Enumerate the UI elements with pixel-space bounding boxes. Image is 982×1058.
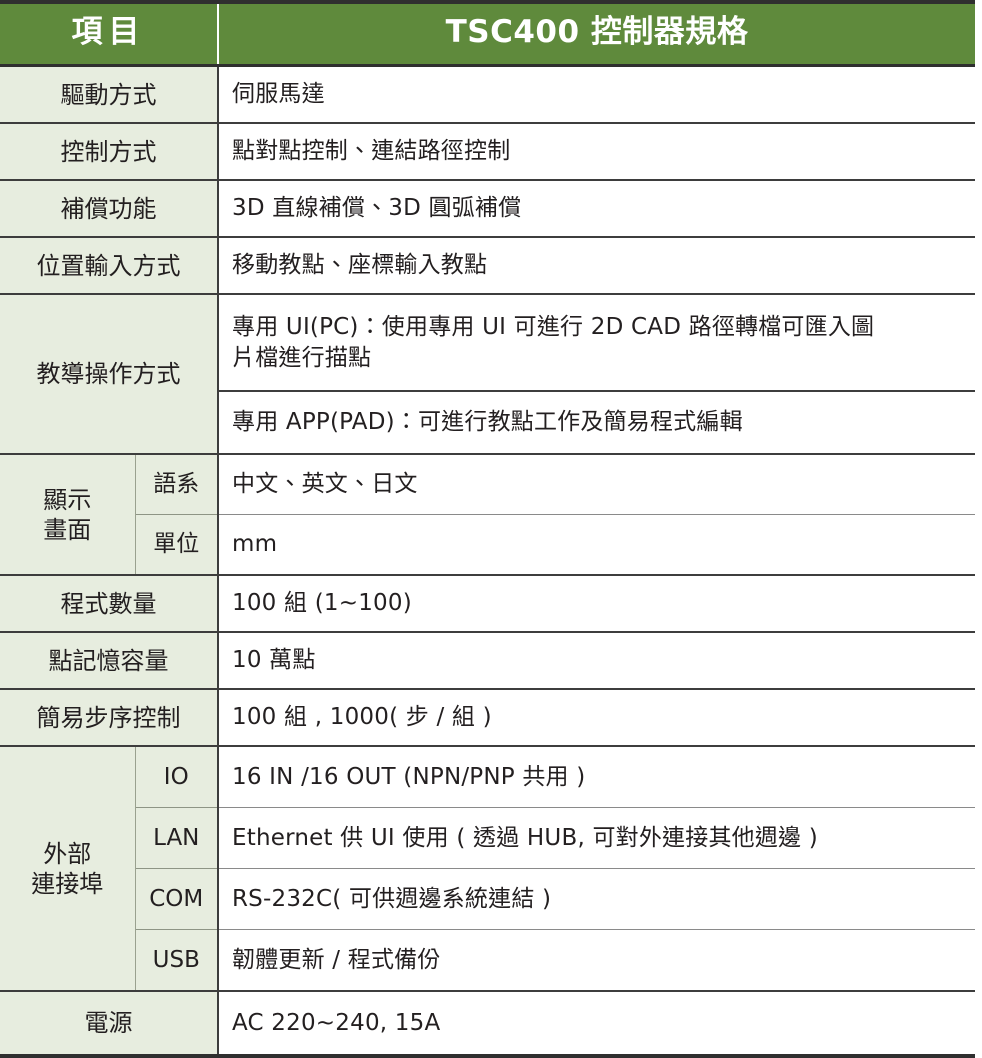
- spec-sheet-container: 項目 TSC400 控制器規格 驅動方式 伺服馬達 控制方式 點對點控制、連結路…: [0, 0, 982, 807]
- table-row-point-memory: 點記憶容量 10 萬點: [0, 632, 975, 689]
- header-item-column: 項目: [0, 2, 218, 66]
- row-value-usb: 韌體更新 / 程式備份: [218, 930, 975, 992]
- table-row-port-usb: USB 韌體更新 / 程式備份: [0, 930, 975, 992]
- table-row-port-com: COM RS-232C( 可供週邊系統連結 ): [0, 869, 975, 930]
- row-value-language: 中文、英文、日文: [218, 454, 975, 515]
- row-label-step-sequence: 簡易步序控制: [0, 689, 218, 746]
- table-row-position-input: 位置輸入方式 移動教點、座標輸入教點: [0, 237, 975, 294]
- row-value-program-count: 100 組 (1~100): [218, 575, 975, 632]
- table-row-step-sequence: 簡易步序控制 100 組 , 1000( 步 / 組 ): [0, 689, 975, 746]
- row-value-point-memory: 10 萬點: [218, 632, 975, 689]
- row-label-control-method: 控制方式: [0, 123, 218, 180]
- teaching-ui-line-1: 專用 UI(PC)：使用專用 UI 可進行 2D CAD 路徑轉檔可匯入圖: [232, 312, 975, 342]
- table-header-row: 項目 TSC400 控制器規格: [0, 2, 975, 66]
- table-row-program-count: 程式數量 100 組 (1~100): [0, 575, 975, 632]
- sub-label-lan: LAN: [135, 808, 218, 869]
- table-row-port-lan: LAN Ethernet 供 UI 使用 ( 透過 HUB, 可對外連接其他週邊…: [0, 808, 975, 869]
- row-value-position-input: 移動教點、座標輸入教點: [218, 237, 975, 294]
- row-label-program-count: 程式數量: [0, 575, 218, 632]
- table-row-power-supply: 電源 AC 220~240, 15A: [0, 991, 975, 1056]
- sub-label-com: COM: [135, 869, 218, 930]
- teaching-ui-line-2: 片檔進行描點: [232, 343, 975, 373]
- row-value-control-method: 點對點控制、連結路徑控制: [218, 123, 975, 180]
- row-value-teaching-ui: 專用 UI(PC)：使用專用 UI 可進行 2D CAD 路徑轉檔可匯入圖 片檔…: [218, 294, 975, 391]
- row-value-teaching-app: 專用 APP(PAD)：可進行教點工作及簡易程式編輯: [218, 391, 975, 454]
- row-value-io: 16 IN /16 OUT (NPN/PNP 共用 ): [218, 746, 975, 808]
- table-body: 驅動方式 伺服馬達 控制方式 點對點控制、連結路徑控制 補償功能 3D 直線補償…: [0, 66, 975, 1057]
- row-label-point-memory: 點記憶容量: [0, 632, 218, 689]
- table-row-control-method: 控制方式 點對點控制、連結路徑控制: [0, 123, 975, 180]
- controller-spec-table: 項目 TSC400 控制器規格 驅動方式 伺服馬達 控制方式 點對點控制、連結路…: [0, 0, 975, 1058]
- display-screen-label-line-1: 顯示: [2, 485, 133, 515]
- row-label-display-screen: 顯示 畫面: [0, 454, 135, 575]
- row-label-drive-method: 驅動方式: [0, 66, 218, 124]
- header-spec-column: TSC400 控制器規格: [218, 2, 975, 66]
- table-row-display-unit: 單位 mm: [0, 515, 975, 576]
- table-row-display-language: 顯示 畫面 語系 中文、英文、日文: [0, 454, 975, 515]
- row-value-lan: Ethernet 供 UI 使用 ( 透過 HUB, 可對外連接其他週邊 ): [218, 808, 975, 869]
- row-value-step-sequence: 100 組 , 1000( 步 / 組 ): [218, 689, 975, 746]
- sub-label-language: 語系: [135, 454, 218, 515]
- sub-label-usb: USB: [135, 930, 218, 992]
- sub-label-unit: 單位: [135, 515, 218, 576]
- table-header: 項目 TSC400 控制器規格: [0, 2, 975, 66]
- row-value-drive-method: 伺服馬達: [218, 66, 975, 124]
- table-row-drive-method: 驅動方式 伺服馬達: [0, 66, 975, 124]
- table-row-port-io: 外部 連接埠 IO 16 IN /16 OUT (NPN/PNP 共用 ): [0, 746, 975, 808]
- table-row-teaching-ui: 教導操作方式 專用 UI(PC)：使用專用 UI 可進行 2D CAD 路徑轉檔…: [0, 294, 975, 391]
- sub-label-io: IO: [135, 746, 218, 808]
- row-value-compensation: 3D 直線補償、3D 圓弧補償: [218, 180, 975, 237]
- row-label-power-supply: 電源: [0, 991, 218, 1056]
- row-label-teaching-method: 教導操作方式: [0, 294, 218, 454]
- display-screen-label-line-2: 畫面: [2, 515, 133, 545]
- row-label-compensation: 補償功能: [0, 180, 218, 237]
- row-label-external-ports: 外部 連接埠: [0, 746, 135, 991]
- external-ports-label-line-1: 外部: [2, 839, 133, 869]
- external-ports-label-line-2: 連接埠: [2, 869, 133, 899]
- table-row-compensation: 補償功能 3D 直線補償、3D 圓弧補償: [0, 180, 975, 237]
- row-value-power-supply: AC 220~240, 15A: [218, 991, 975, 1056]
- row-label-position-input: 位置輸入方式: [0, 237, 218, 294]
- row-value-com: RS-232C( 可供週邊系統連結 ): [218, 869, 975, 930]
- row-value-unit: mm: [218, 515, 975, 576]
